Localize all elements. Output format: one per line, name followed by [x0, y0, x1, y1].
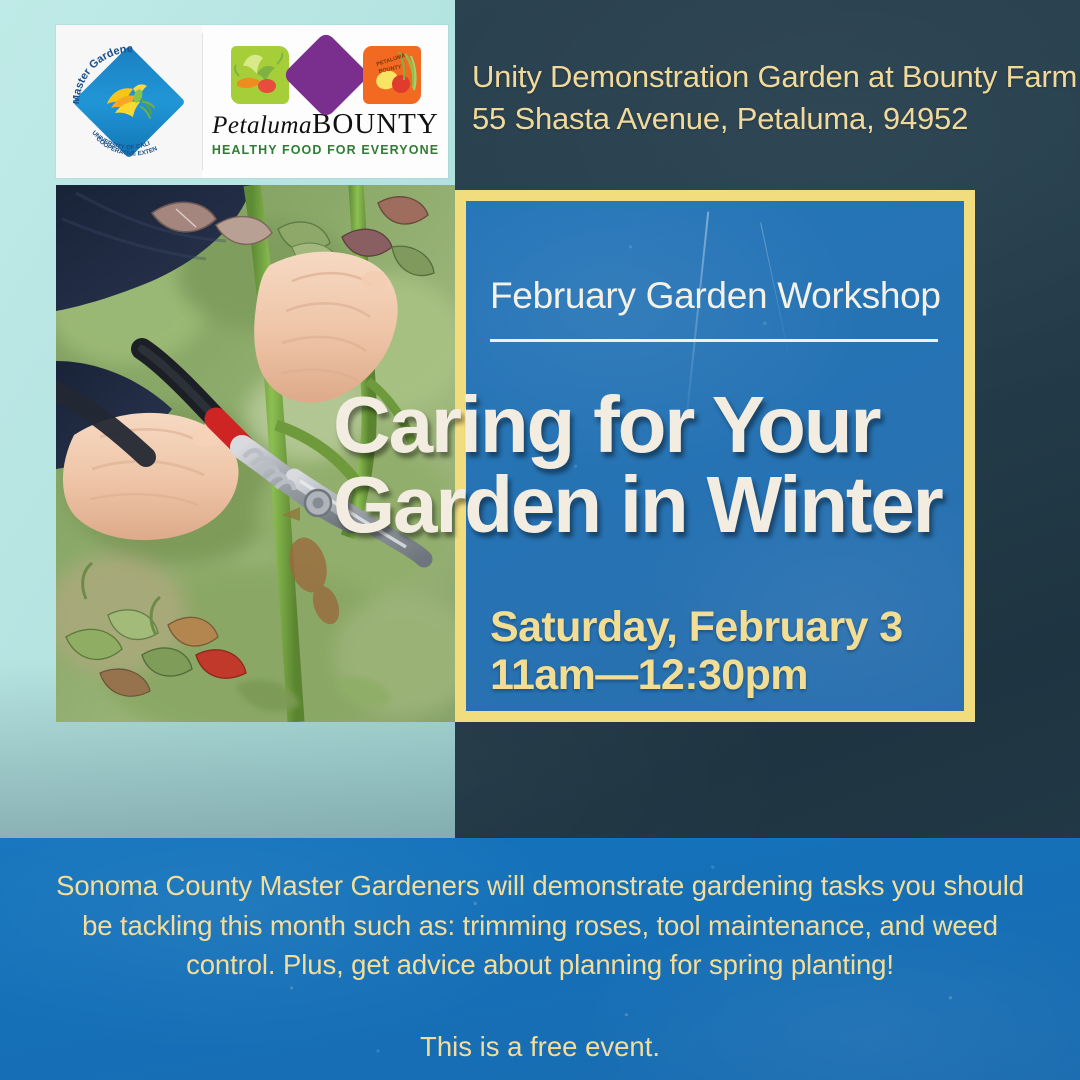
purple-diamond-icon [282, 31, 370, 119]
petaluma-bounty-logo: PETALUMA BOUNTY PetalumaBOUNTY HEALTHY F… [203, 25, 448, 178]
footer-free-note: This is a free event. [0, 1031, 1080, 1063]
event-time: 11am—12:30pm [490, 651, 903, 699]
description-footer: Sonoma County Master Gardeners will demo… [0, 838, 1080, 1080]
title-line-2: Garden in Winter [333, 468, 942, 542]
footer-description: Sonoma County Master Gardeners will demo… [0, 838, 1080, 985]
street-address: 55 Shasta Avenue, Petaluma, 94952 [472, 98, 1077, 140]
poster-canvas: Master Gardener UNIVERSITY OF CALIFORNIA… [0, 0, 1080, 1080]
event-datetime: Saturday, February 3 11am—12:30pm [490, 603, 903, 699]
mg-text-ring: Master Gardener UNIVERSITY OF CALIFORNIA… [73, 46, 185, 158]
title-line-1: Caring for Your [333, 380, 879, 469]
bounty-tagline: HEALTHY FOOD FOR EVERYONE [212, 143, 439, 157]
bounty-word-script: Petaluma [212, 112, 312, 139]
purple-diamond-wrap [293, 44, 359, 106]
event-date: Saturday, February 3 [490, 603, 903, 651]
logo-strip: Master Gardener UNIVERSITY OF CALIFORNIA… [56, 25, 448, 178]
orange-harvest-square-icon: PETALUMA BOUNTY [363, 46, 421, 104]
venue-name: Unity Demonstration Garden at Bounty Far… [472, 56, 1077, 98]
svg-text:Master Gardener: Master Gardener [73, 46, 133, 105]
page-title: Caring for Your Garden in Winter [333, 388, 942, 543]
bounty-emblem-row: PETALUMA BOUNTY [231, 44, 421, 106]
eyebrow-divider [490, 339, 938, 342]
svg-text:UNIVERSITY OF CALIFORNIA: UNIVERSITY OF CALIFORNIA [73, 46, 151, 151]
master-gardener-logo: Master Gardener UNIVERSITY OF CALIFORNIA… [56, 25, 202, 178]
workshop-eyebrow: February Garden Workshop [490, 275, 941, 317]
green-vegetables-square-icon [231, 46, 289, 104]
venue-address-block: Unity Demonstration Garden at Bounty Far… [472, 56, 1077, 140]
